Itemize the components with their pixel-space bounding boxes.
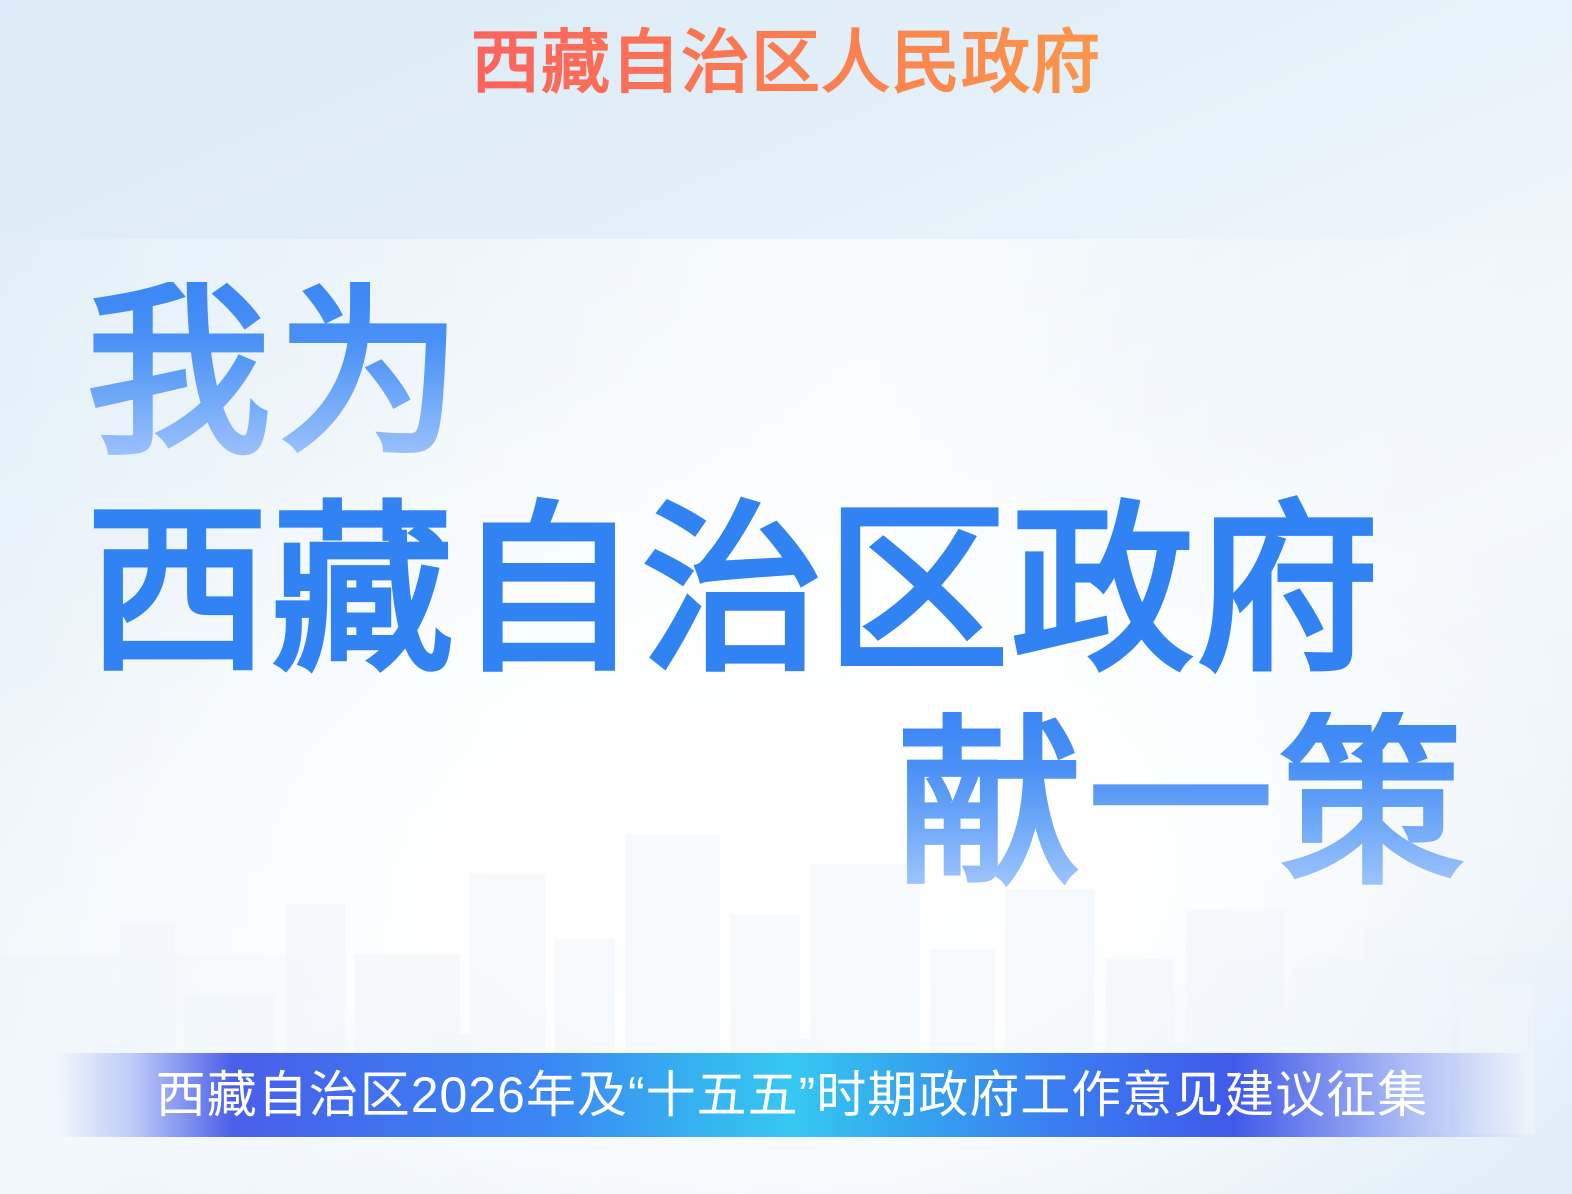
poster-canvas: 西藏自治区人民政府 我为 西藏自治区政府 献一策 西藏自治区2026年及“十五五… xyxy=(0,0,1572,1194)
headline-line-1: 我为 xyxy=(86,282,1486,467)
headline-line-2: 西藏自治区政府 xyxy=(86,499,1486,682)
headline-block: 我为 西藏自治区政府 献一策 xyxy=(86,282,1486,897)
subtitle-ribbon-text: 西藏自治区2026年及“十五五”时期政府工作意见建议征集 xyxy=(156,1070,1429,1120)
organization-title: 西藏自治区人民政府 xyxy=(0,26,1572,99)
subtitle-ribbon: 西藏自治区2026年及“十五五”时期政府工作意见建议征集 xyxy=(57,1053,1527,1137)
headline-line-3: 献一策 xyxy=(86,712,1486,897)
